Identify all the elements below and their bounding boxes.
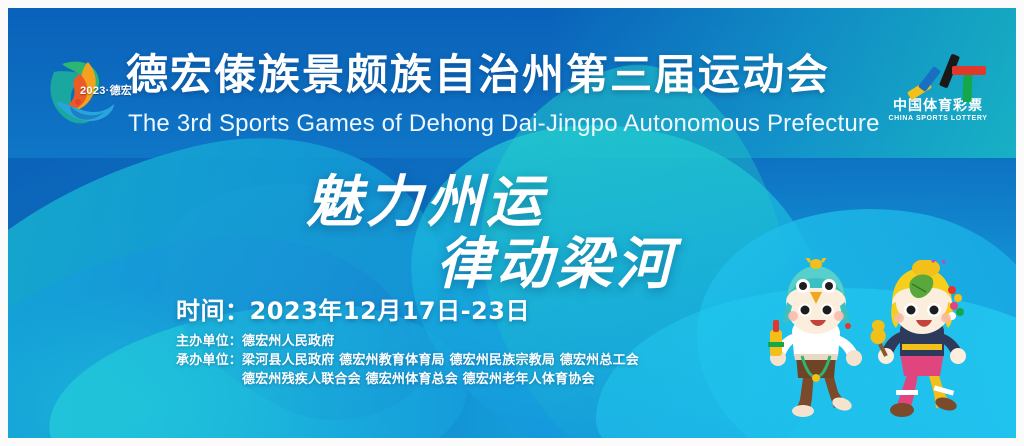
emblem-year-text: 2023·德宏 <box>80 82 132 98</box>
cohost-organizations-line-1: 承办单位：梁河县人民政府 德宏州教育体育局 德宏州民族宗教局 德宏州总工会 <box>176 351 736 370</box>
event-info-block: 时间：2023年12月17日-23日 主办单位：德宏州人民政府 承办单位：梁河县… <box>176 296 736 389</box>
page-title: 德宏傣族景颇族自治州第三届运动会 <box>126 51 830 99</box>
china-sports-lottery-logo: 中国体育彩票 CHINA SPORTS LOTTERY <box>882 52 994 138</box>
cohost-organizations-line-2: 德宏州残疾人联合会 德宏州体育总会 德宏州老年人体育协会 <box>176 370 736 389</box>
event-poster: 2023·德宏 德宏傣族景颇族自治州第三届运动会 The 3rd Sports … <box>8 8 1016 438</box>
host-organization: 主办单位：德宏州人民政府 <box>176 332 736 351</box>
lottery-name-cn: 中国体育彩票 <box>882 98 994 114</box>
poster-header: 2023·德宏 德宏傣族景颇族自治州第三届运动会 The 3rd Sports … <box>8 8 1016 148</box>
games-emblem-icon: 2023·德宏 <box>36 44 128 136</box>
page-subtitle-english: The 3rd Sports Games of Dehong Dai-Jingp… <box>128 110 880 138</box>
event-date: 时间：2023年12月17日-23日 <box>176 296 736 326</box>
lottery-name-en: CHINA SPORTS LOTTERY <box>882 114 994 124</box>
mascot-peacock-boy <box>760 258 872 420</box>
poster-frame: 2023·德宏 德宏傣族景颇族自治州第三届运动会 The 3rd Sports … <box>0 0 1024 446</box>
lottery-mark-icon <box>882 52 994 98</box>
mascot-gourd-girl <box>866 260 978 420</box>
